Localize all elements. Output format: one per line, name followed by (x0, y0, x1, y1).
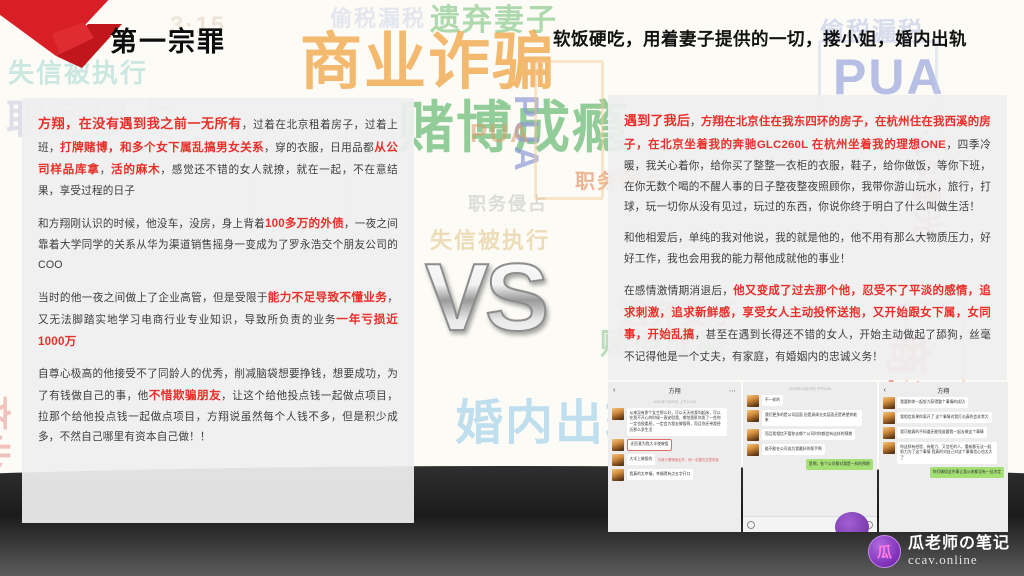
right-p2-a: 和他相爱后，单纯的我对他说，我的就是他的，他不用有那么大物质压力，好好工作，我也… (624, 232, 991, 264)
left-p1-rest3: ， (100, 164, 111, 176)
chat-column: ‹方翔⋯2021年7月20日 上午10:34从来没有那个女生那么好，可以天天给我… (608, 382, 741, 532)
chat-bubble: 从来没有那个女生那么好，可以天天给我叫起床，可以在我不开心的时候一直安慰我，哪怕… (627, 408, 727, 436)
right-accusation-panel: 遇到了我后，方翔在北京住在我东四环的房子，在杭州住在我西溪的房子，在北京坐着我的… (608, 95, 1007, 380)
voice-icon[interactable] (747, 521, 755, 529)
chat-bubble: 不一样的 (762, 395, 783, 406)
chat-message-incoming: 而且我相信不管你去哪个公司时你都会有这样的预期 (743, 429, 876, 441)
chevron-left-icon[interactable]: ‹ (613, 387, 615, 394)
chat-contact-name: 方翔 (937, 386, 949, 395)
avatar (883, 412, 895, 424)
chat-message-incoming: 我们更多的是公司层面 但是具体业务层面还是希望你能来 (743, 410, 876, 426)
left-p2-a: 和方翔刚认识的时候，他没车，没房，身上背着 (38, 218, 265, 230)
chat-message-incoming: 大半上做饭的可我只要喊他走开，他一定要在这里哄我 (608, 454, 741, 466)
left-accusation-panel: 方翔，在没有遇到我之前一无所有，过着在北京租着房子，过着上班，打牌赌博，和多个女… (22, 98, 414, 523)
chat-timestamp: 2020年12月19日 下午4:20 (743, 387, 876, 392)
avatar (747, 410, 759, 422)
chat-message-incoming: 我真的太幸福，幸福得有点五字开口 (608, 469, 741, 481)
background-word: 偷税漏税 (330, 8, 426, 30)
right-paragraph-3: 在感情激情期消退后，他又变成了过去那个他，忍受不了平淡的感情，追求刺激，追求新鲜… (624, 280, 991, 367)
left-p1-lead: 方翔，在没有遇到我之前一无所有 (38, 116, 242, 131)
chat-annotation: 可我只要喊他走开，他一定要在这里哄我 (658, 454, 719, 463)
chat-message-incoming: 还愿意为我大半夜做饭 (608, 439, 741, 452)
avatar (747, 395, 759, 407)
chat-column: ‹方翔我要和你一起努力获得整个事情的成功我相信如果你离开了 这个事情对我打击真的… (879, 382, 1008, 532)
watermark-subtitle: ccav.online (908, 553, 1010, 567)
chat-bubble: 你这样有经验、有能力、又信任的人，重新都无法一起努力为了这个事情 我真的对自己对… (897, 442, 997, 464)
chat-bubble: 我要和你一起努力获得整个事情的成功 (897, 397, 968, 408)
background-word: 商业诈骗 (300, 32, 556, 94)
avatar (612, 439, 624, 451)
chat-bubble: 我可能真的不知道还能找谁跟我一起去做这个事情 (897, 427, 987, 438)
chat-bubble: 我们更多的是公司层面 但是具体业务层面还是希望你能来 (762, 410, 862, 426)
left-paragraph-3: 当时的他一夜之间做上了企业高管，但是受限于能力不足导致不懂业务，又无法脚踏实地学… (38, 287, 398, 354)
chat-nav-bar: ‹方翔⋯ (608, 384, 741, 397)
chat-bubble: 还愿意为我大半夜做饭 (627, 439, 673, 452)
right-p3-a: 在感情激情期消退后， (624, 285, 733, 297)
left-p3-a: 当时的他一夜之间做上了企业高管，但是受限于 (38, 292, 268, 304)
avatar (612, 454, 624, 466)
red-ribbon-decoration (0, 0, 126, 74)
vs-badge: VS (425, 243, 545, 353)
chat-message-incoming: 不一样的 (743, 395, 876, 407)
chat-message-incoming: 从来没有那个女生那么好，可以天天给我叫起床，可以在我不开心的时候一直安慰我，哪怕… (608, 408, 741, 436)
left-p2-hl: 100多万的外债 (265, 217, 344, 230)
avatar (612, 408, 624, 420)
left-paragraph-4: 自尊心极高的他接受不了同龄人的优秀，削减脑袋想要挣钱，想要成功，为了有钱做自己的… (38, 364, 398, 447)
chevron-left-icon[interactable]: ‹ (884, 387, 886, 394)
chat-message-incoming: 我要和你一起努力获得整个事情的成功 (879, 397, 1008, 409)
page-title-right: 软饭硬吃，用着妻子提供的一切，搂小姐，婚内出轨 (553, 26, 967, 51)
right-p1-lead: 遇到了我后 (624, 113, 690, 128)
avatar (747, 444, 759, 456)
chat-message-outgoing: 你们确保这件事让我从来都没有一丝决定 (879, 467, 1008, 478)
left-p1-hl1: 打牌赌博，和多个女下属乱搞男女关系 (60, 141, 264, 154)
chat-bubble: 我真的太幸福，幸福得有点五字开口 (627, 469, 694, 480)
chat-message-incoming: 能不能在公司成为我最好的帮手啊 (743, 444, 876, 456)
avatar (883, 427, 895, 439)
chat-message-outgoing: 是啊，各个公司都对我是一样的预期 (743, 459, 876, 470)
avatar (883, 397, 895, 409)
background-box (534, 60, 604, 200)
right-paragraph-1: 遇到了我后，方翔在北京住在我东四环的房子，在杭州住在我西溪的房子，在北京坐着我的… (624, 109, 991, 217)
right-p1-rest: ， (690, 116, 701, 128)
chat-bubble: 我相信如果你离开了 这个事情对我打击真的会非常大 (897, 412, 991, 423)
left-paragraph-2: 和方翔刚认识的时候，他没车，没房，身上背着100多万的外债，一夜之间靠着大学同学… (38, 213, 398, 276)
page-title-left: 第一宗罪 (110, 20, 226, 59)
purple-sticker (835, 512, 869, 532)
avatar (747, 429, 759, 441)
left-p1-hl3: 活的麻木 (111, 163, 160, 176)
chat-bubble: 大半上做饭的 (627, 454, 656, 465)
left-p3-hl1: 能力不足导致不懂业务 (268, 291, 387, 304)
avatar (883, 442, 895, 454)
more-dots-icon[interactable]: ⋯ (729, 387, 737, 395)
avatar (612, 469, 624, 481)
chat-message-incoming: 我相信如果你离开了 这个事情对我打击真的会非常大 (879, 412, 1008, 424)
left-p4-hl: 不惜欺骗朋友 (149, 389, 221, 402)
chat-bubble: 能不能在公司成为我最好的帮手啊 (762, 444, 825, 455)
watermark-logo-icon: 瓜 (868, 535, 901, 568)
chat-message-incoming: 你这样有经验、有能力、又信任的人，重新都无法一起努力为了这个事情 我真的对自己对… (879, 442, 1008, 464)
watermark-title: 瓜老师の笔记 (908, 536, 1010, 553)
chat-bubble: 是啊，各个公司都对我是一样的预期 (806, 459, 873, 470)
chat-bubble: 而且我相信不管你去哪个公司时你都会有这样的预期 (762, 429, 855, 440)
chat-nav-bar: ‹方翔 (879, 384, 1008, 397)
background-word: PUA (470, 120, 531, 146)
left-paragraph-1: 方翔，在没有遇到我之前一无所有，过着在北京租着房子，过着上班，打牌赌博，和多个女… (38, 112, 398, 202)
left-p1-rest2: ，穿的衣服，日用品都 (264, 142, 374, 154)
right-paragraph-2: 和他相爱后，单纯的我对他说，我的就是他的，他不用有那么大物质压力，好好工作，我也… (624, 228, 991, 269)
chat-column: 2020年12月19日 下午4:20不一样的我们更多的是公司层面 但是具体业务层… (743, 382, 876, 532)
chat-message-incoming: 我可能真的不知道还能找谁跟我一起去做这个事情 (879, 427, 1008, 439)
chat-screenshot-strip: ‹方翔⋯2021年7月20日 上午10:34从来没有那个女生那么好，可以天天给我… (608, 382, 1008, 532)
watermark: 瓜 瓜老师の笔记 ccav.online (868, 535, 1010, 568)
chat-contact-name: 方翔 (669, 386, 681, 395)
chat-timestamp: 2021年7月20日 上午10:34 (608, 400, 741, 405)
chat-bubble: 你们确保这件事让我从来都没有一丝决定 (930, 467, 1004, 478)
